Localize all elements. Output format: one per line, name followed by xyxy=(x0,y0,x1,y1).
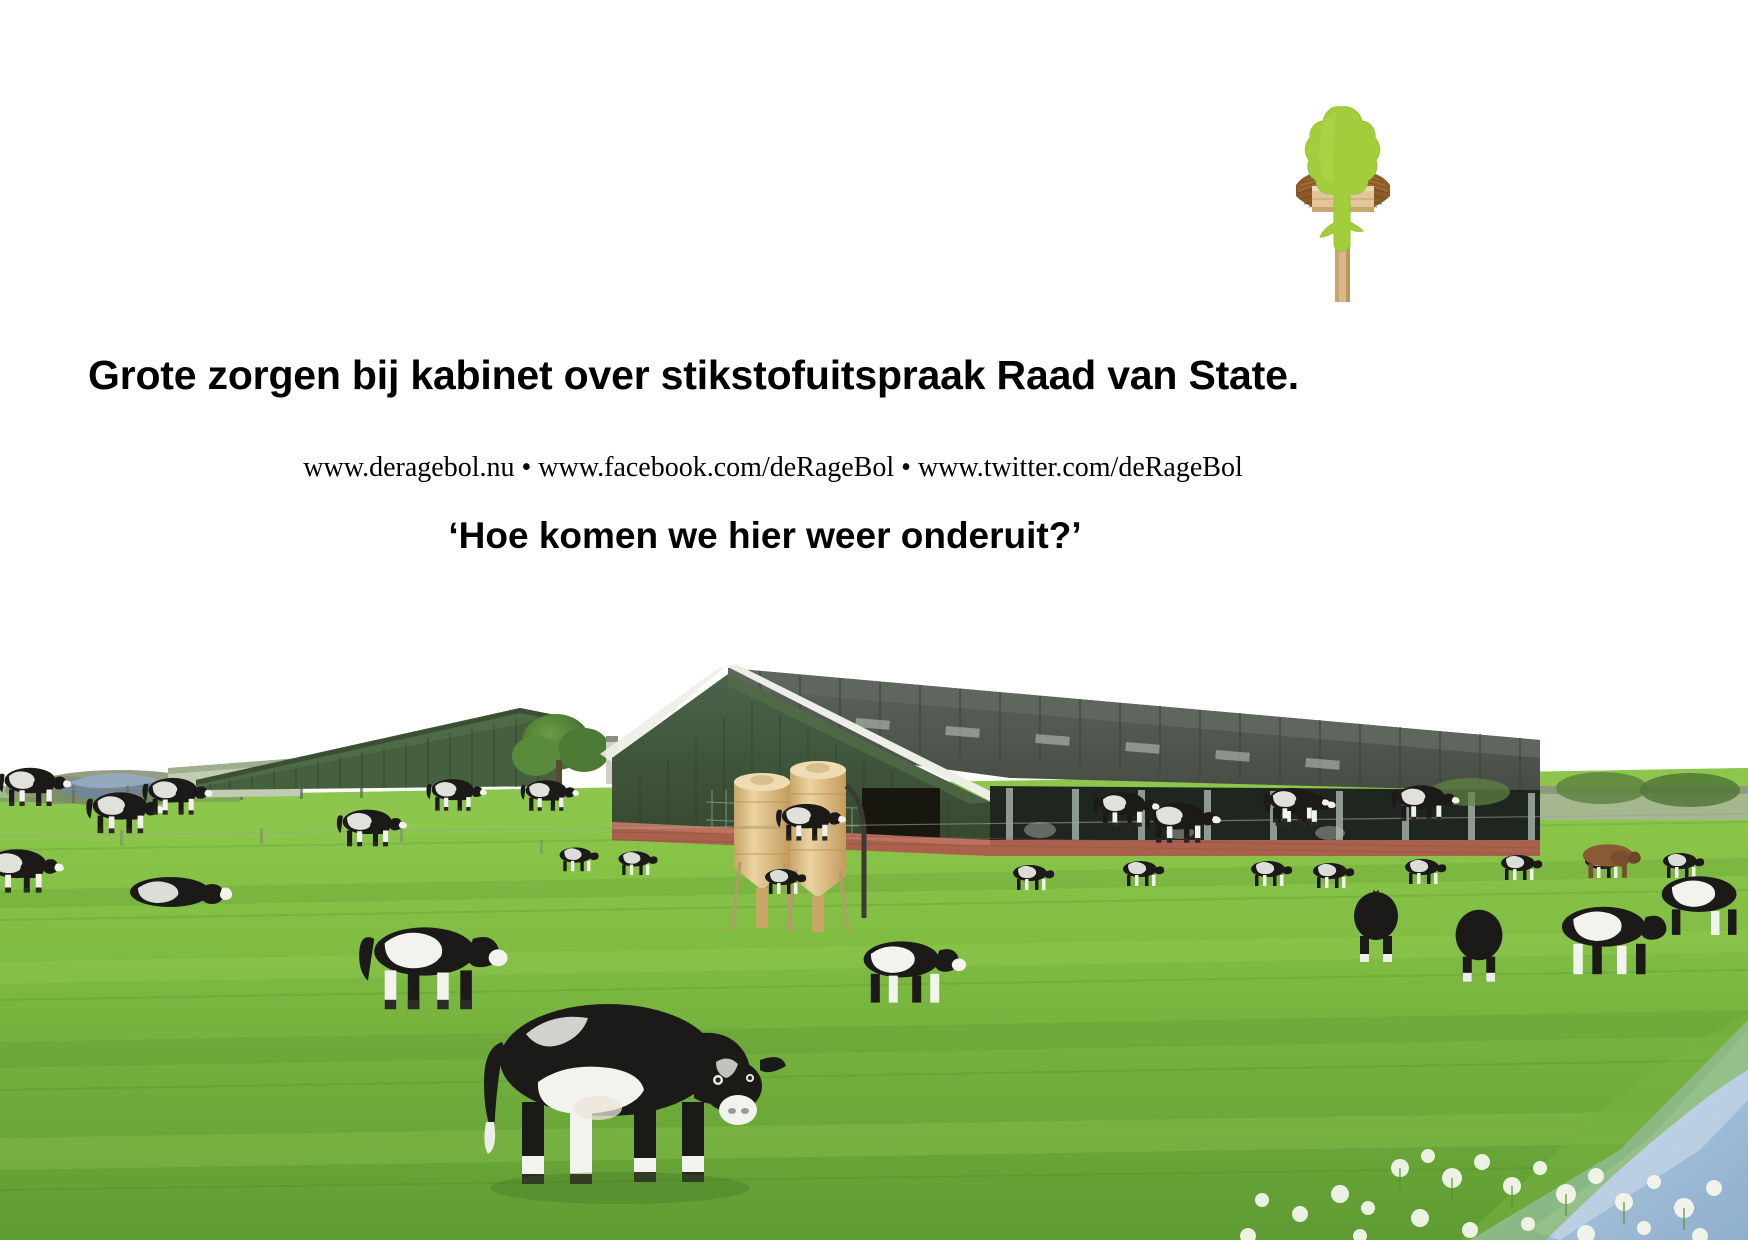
social-links-line: www.deragebol.nu • www.facebook.com/deRa… xyxy=(0,452,1546,484)
slide-canvas: Grote zorgen bij kabinet over stikstofui… xyxy=(0,0,1748,1240)
quote-caption: ‘Hoe komen we hier weer onderuit?’ xyxy=(0,515,1530,557)
page-title: Grote zorgen bij kabinet over stikstofui… xyxy=(88,352,1668,399)
dairy-farm-pasture-photo xyxy=(0,590,1748,1240)
deragebol-tree-broom-logo xyxy=(1278,100,1408,305)
